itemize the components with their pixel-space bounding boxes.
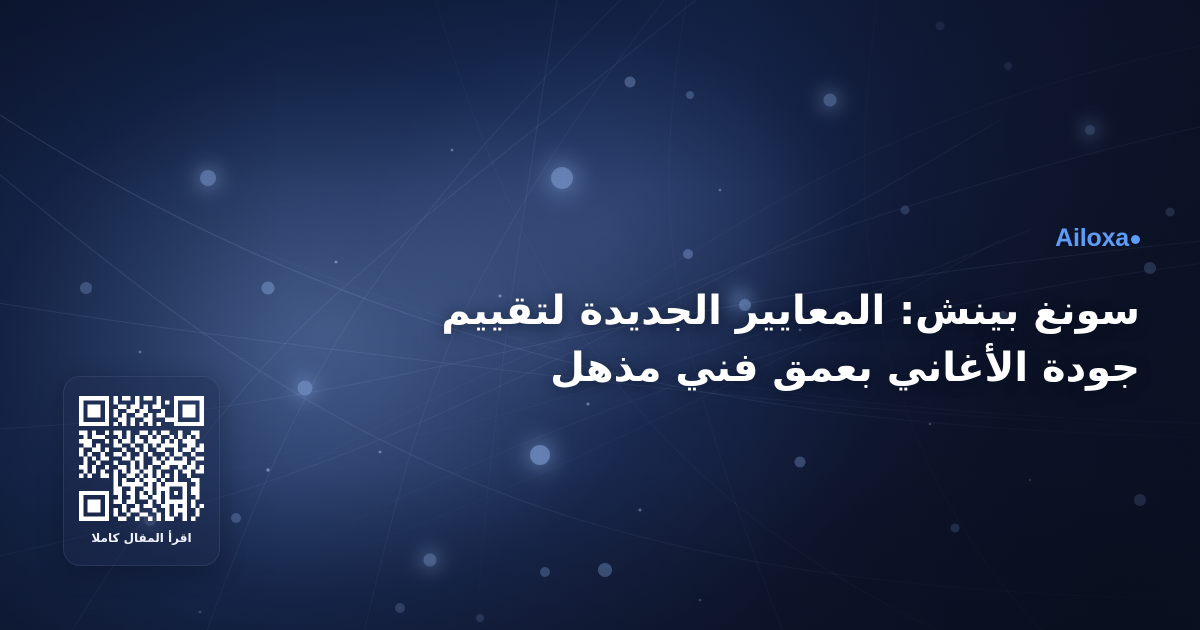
qr-card[interactable]: اقرأ المقال كاملا — [63, 376, 220, 566]
brand-name: Ailoxa — [1055, 226, 1129, 251]
brand-dot-icon — [1131, 235, 1140, 244]
page-title: سونغ بينش: المعايير الجديدة لتقييم جودة … — [400, 283, 1140, 397]
social-share-card: Ailoxa سونغ بينش: المعايير الجديدة لتقيي… — [0, 0, 1200, 630]
qr-code-icon[interactable] — [79, 396, 204, 521]
qr-caption: اقرأ المقال كاملا — [91, 532, 191, 544]
brand-logo[interactable]: Ailoxa — [1055, 226, 1140, 251]
